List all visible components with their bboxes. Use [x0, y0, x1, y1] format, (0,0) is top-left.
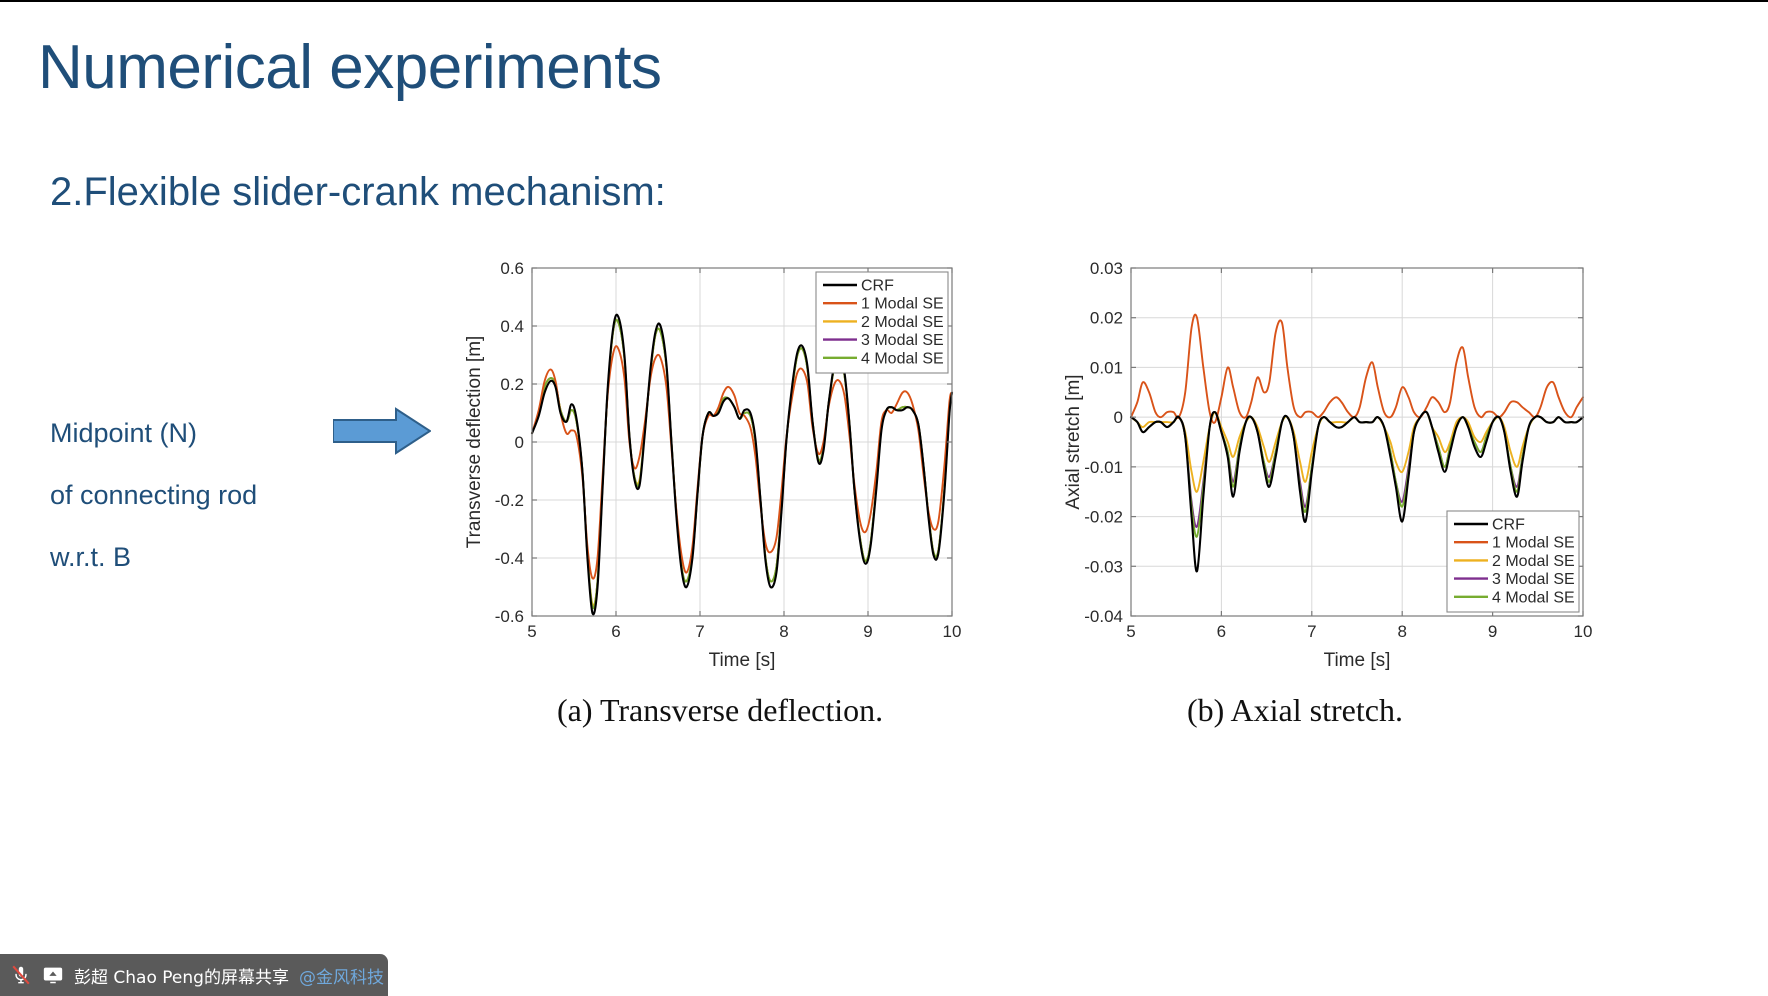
- x-tick-label: 7: [695, 622, 704, 641]
- share-owner-label: 彭超 Chao Peng的屏幕共享: [74, 963, 289, 988]
- y-tick-label: 0.01: [1090, 358, 1123, 377]
- x-tick-label: 6: [611, 622, 620, 641]
- x-tick-label: 5: [527, 622, 536, 641]
- sidenote-line-2: of connecting rod: [50, 464, 257, 526]
- x-axis-label: Time [s]: [1324, 650, 1391, 671]
- sidenote-line-1: Midpoint (N): [50, 402, 257, 464]
- series-line: [1131, 315, 1583, 423]
- y-tick-label: 0.4: [500, 317, 524, 336]
- legend-label: 4 Modal SE: [1492, 589, 1575, 606]
- y-tick-label: -0.2: [495, 491, 524, 510]
- sidenote-block: Midpoint (N) of connecting rod w.r.t. B: [50, 402, 257, 588]
- y-tick-label: 0.2: [500, 375, 524, 394]
- y-tick-label: -0.6: [495, 607, 524, 626]
- x-tick-label: 9: [1488, 622, 1497, 641]
- y-tick-label: 0.6: [500, 259, 524, 278]
- chart-legend: CRF1 Modal SE2 Modal SE3 Modal SE4 Modal…: [1447, 511, 1579, 612]
- y-tick-label: -0.04: [1084, 607, 1123, 626]
- y-tick-label: 0.03: [1090, 259, 1123, 278]
- figure-caption-b: (b) Axial stretch.: [1187, 692, 1403, 729]
- chart-transverse-deflection: 56789100.60.40.20-0.2-0.4-0.6Time [s]Tra…: [460, 254, 980, 674]
- y-axis-label: Axial stretch [m]: [1063, 374, 1084, 509]
- y-tick-label: -0.02: [1084, 508, 1123, 527]
- figure-caption-a: (a) Transverse deflection.: [557, 692, 883, 729]
- screen-share-taskbar[interactable]: 彭超 Chao Peng的屏幕共享 @金风科技: [0, 954, 388, 996]
- x-tick-label: 10: [1574, 622, 1593, 641]
- x-tick-label: 6: [1217, 622, 1226, 641]
- presentation-slide: Numerical experiments 2.Flexible slider-…: [0, 0, 1768, 996]
- chart-legend: CRF1 Modal SE2 Modal SE3 Modal SE4 Modal…: [816, 272, 948, 373]
- sidenote-line-3: w.r.t. B: [50, 526, 257, 588]
- share-org-mention: @金风科技: [299, 963, 384, 988]
- legend-label: CRF: [861, 278, 894, 295]
- legend-label: 1 Modal SE: [1492, 535, 1575, 552]
- legend-label: 2 Modal SE: [861, 314, 944, 331]
- y-tick-label: -0.01: [1084, 458, 1123, 477]
- legend-label: 1 Modal SE: [861, 296, 944, 313]
- y-tick-label: -0.4: [495, 549, 524, 568]
- y-tick-label: 0.02: [1090, 309, 1123, 328]
- right-arrow-icon: [333, 407, 431, 455]
- section-subtitle: 2.Flexible slider-crank mechanism:: [50, 170, 666, 215]
- legend-label: CRF: [1492, 517, 1525, 534]
- x-tick-label: 5: [1126, 622, 1135, 641]
- x-tick-label: 8: [1397, 622, 1406, 641]
- legend-label: 3 Modal SE: [1492, 571, 1575, 588]
- legend-label: 4 Modal SE: [861, 350, 944, 367]
- x-tick-label: 9: [863, 622, 872, 641]
- chart-axial-stretch: 56789100.030.020.010-0.01-0.02-0.03-0.04…: [1045, 254, 1605, 674]
- page-title: Numerical experiments: [38, 32, 662, 103]
- y-tick-label: -0.03: [1084, 557, 1123, 576]
- y-tick-label: 0: [1114, 408, 1123, 427]
- y-tick-label: 0: [515, 433, 524, 452]
- x-tick-label: 10: [943, 622, 962, 641]
- microphone-muted-icon[interactable]: [10, 964, 32, 986]
- x-tick-label: 7: [1307, 622, 1316, 641]
- y-axis-label: Transverse deflection [m]: [464, 336, 485, 549]
- x-tick-label: 8: [779, 622, 788, 641]
- series-line: [532, 346, 952, 579]
- screen-share-icon[interactable]: [42, 964, 64, 986]
- series-line: [1131, 412, 1583, 492]
- series-line: [1131, 412, 1583, 527]
- x-axis-label: Time [s]: [709, 650, 776, 671]
- legend-label: 2 Modal SE: [1492, 553, 1575, 570]
- legend-label: 3 Modal SE: [861, 332, 944, 349]
